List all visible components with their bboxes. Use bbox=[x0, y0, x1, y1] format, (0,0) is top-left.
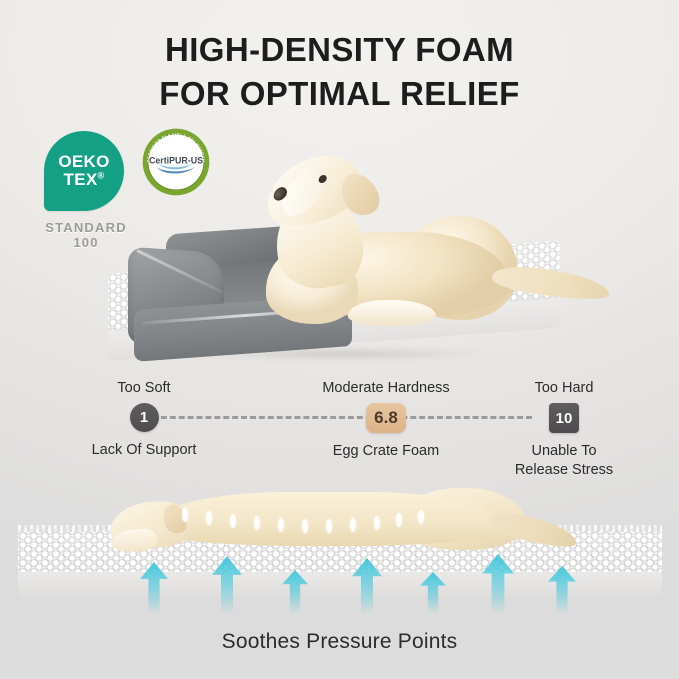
hardness-scale: Too Soft 1 Lack Of Support Moderate Hard… bbox=[0, 379, 679, 469]
scale-node-too-soft: Too Soft 1 Lack Of Support bbox=[68, 379, 220, 460]
pressure-arrow-up-icon bbox=[352, 558, 382, 614]
scale-top-label: Too Soft bbox=[68, 379, 220, 397]
bottom-caption: Soothes Pressure Points bbox=[0, 630, 679, 654]
spine-dot bbox=[206, 511, 212, 525]
scale-value-badge: 1 bbox=[130, 403, 159, 432]
spine-dot bbox=[374, 516, 380, 530]
pressure-arrow-up-icon bbox=[282, 570, 308, 614]
scale-bottom-label: Lack Of Support bbox=[68, 441, 220, 460]
scale-bottom-label-line-1: Unable To bbox=[478, 442, 650, 461]
spine-dot bbox=[182, 508, 188, 522]
labrador-dog-sitting bbox=[236, 150, 566, 350]
scale-node-too-hard: Too Hard 10 Unable To Release Stress bbox=[478, 379, 650, 480]
spine-dot bbox=[302, 519, 308, 533]
infographic-page: HIGH-DENSITY FOAM FOR OPTIMAL RELIEF OEK… bbox=[0, 0, 679, 679]
spine-dot bbox=[230, 514, 236, 528]
pressure-arrow-up-icon bbox=[482, 554, 514, 614]
headline-line-1: HIGH-DENSITY FOAM bbox=[0, 28, 679, 72]
pressure-arrow-up-icon bbox=[548, 566, 576, 614]
spine-dot bbox=[396, 513, 402, 527]
spine-dot bbox=[254, 516, 260, 530]
spine-dot bbox=[418, 510, 424, 524]
spine-dot bbox=[278, 518, 284, 532]
pressure-points-illustration bbox=[0, 470, 679, 630]
pressure-arrows bbox=[0, 544, 679, 614]
page-title: HIGH-DENSITY FOAM FOR OPTIMAL RELIEF bbox=[0, 28, 679, 115]
product-photo bbox=[0, 150, 679, 380]
spine-dot bbox=[350, 518, 356, 532]
scale-value-badge: 10 bbox=[549, 403, 579, 433]
pressure-arrow-up-icon bbox=[212, 556, 242, 614]
dog-front-paw bbox=[348, 300, 436, 326]
scale-value-badge: 6.8 bbox=[366, 403, 406, 433]
scale-bottom-label: Egg Crate Foam bbox=[300, 442, 472, 461]
pressure-arrow-up-icon bbox=[140, 562, 168, 614]
spine-dot bbox=[326, 519, 332, 533]
scale-node-moderate: Moderate Hardness 6.8 Egg Crate Foam bbox=[300, 379, 472, 461]
pressure-arrow-up-icon bbox=[420, 572, 446, 614]
headline-line-2: FOR OPTIMAL RELIEF bbox=[0, 72, 679, 116]
scale-top-label: Moderate Hardness bbox=[300, 379, 472, 397]
scale-top-label: Too Hard bbox=[478, 379, 650, 397]
